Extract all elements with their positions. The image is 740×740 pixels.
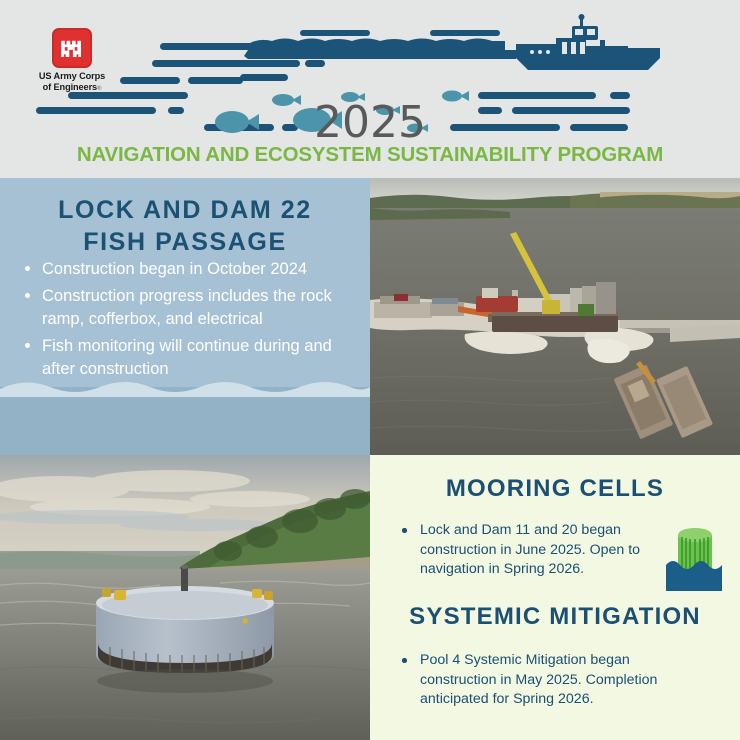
bullet-dot-icon bbox=[402, 658, 407, 663]
list-item: Pool 4 Systemic Mitigation began constru… bbox=[394, 651, 694, 710]
mooring-cells-bullet-list: Lock and Dam 11 and 20 began constructio… bbox=[394, 521, 690, 580]
fish-passage-heading: LOCK AND DAM 22 FISH PASSAGE bbox=[0, 194, 370, 258]
water-illustration bbox=[0, 379, 370, 455]
barge-illustration bbox=[244, 39, 516, 60]
mooring-cells-heading: MOORING CELLS bbox=[370, 475, 740, 503]
page-title: NAVIGATION AND ECOSYSTEM SUSTAINABILITY … bbox=[0, 144, 740, 166]
list-item: Construction progress includes the rock … bbox=[18, 285, 354, 332]
infographic-page: US Army Corpsof Engineers® 2025 NAVIGATI… bbox=[0, 0, 740, 740]
systemic-mitigation-bullet-list: Pool 4 Systemic Mitigation began constru… bbox=[394, 651, 694, 710]
programs-text-panel: MOORING CELLS Lock and Dam 11 and 20 beg… bbox=[370, 455, 740, 740]
registered-mark: ® bbox=[97, 86, 101, 92]
bullet-dot-icon bbox=[25, 343, 30, 348]
bullet-dot-icon bbox=[402, 528, 407, 533]
towboat-illustration bbox=[516, 14, 660, 70]
mooring-cell-icon bbox=[660, 517, 728, 593]
bullet-dot-icon bbox=[25, 293, 30, 298]
year-label: 2025 bbox=[0, 101, 740, 145]
aerial-construction-photo bbox=[370, 178, 740, 455]
list-item: Lock and Dam 11 and 20 began constructio… bbox=[394, 521, 690, 580]
usace-logo-text: US Army Corpsof Engineers® bbox=[24, 71, 120, 94]
list-item: Fish monitoring will continue during and… bbox=[18, 335, 354, 382]
castle-icon bbox=[52, 28, 92, 68]
fish-passage-bullet-list: Construction began in October 2024 Const… bbox=[18, 258, 354, 385]
fish-passage-panel: LOCK AND DAM 22 FISH PASSAGE Constructio… bbox=[0, 178, 370, 455]
usace-logo: US Army Corpsof Engineers® bbox=[24, 28, 120, 94]
systemic-mitigation-heading: SYSTEMIC MITIGATION bbox=[370, 603, 740, 631]
list-item: Construction began in October 2024 bbox=[18, 258, 354, 282]
bullet-dot-icon bbox=[25, 266, 30, 271]
mooring-cell-photo bbox=[0, 455, 370, 740]
header-banner: US Army Corpsof Engineers® 2025 NAVIGATI… bbox=[0, 0, 740, 178]
